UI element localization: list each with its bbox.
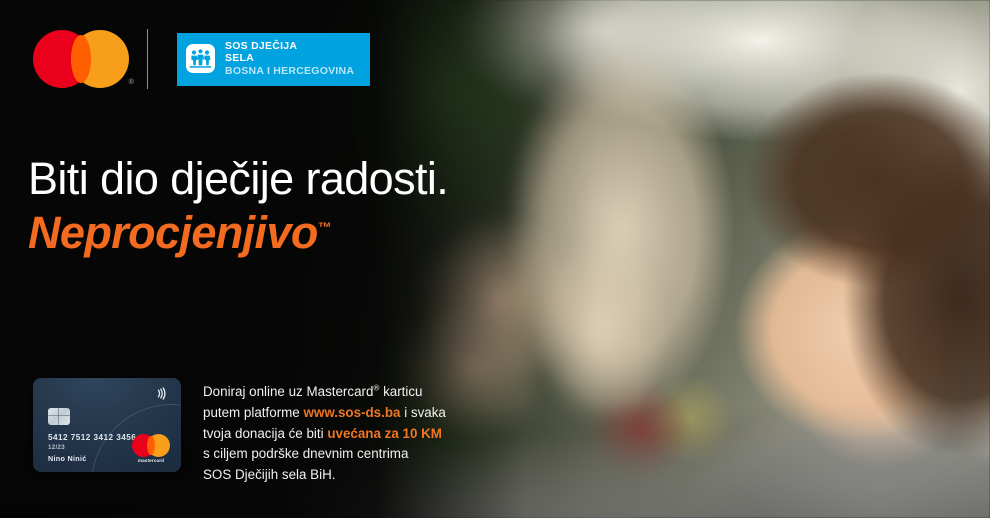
donation-copy: Doniraj online uz Mastercard® karticu pu…: [203, 378, 446, 486]
headline-tagline-text: Neprocjenjivo: [28, 207, 318, 258]
donation-website-link[interactable]: www.sos-ds.ba: [303, 405, 400, 420]
trademark-icon: ™: [318, 219, 332, 235]
card-mastercard-circles: [132, 434, 170, 457]
copy-line-3: tvoja donacija će biti uvećana za 10 KM: [203, 424, 446, 445]
emv-chip-icon: [48, 408, 70, 425]
sos-logo-text: SOS DJEČIJA SELA BOSNA I HERCEGOVINA: [225, 40, 354, 77]
copy-line-1-a: Doniraj online uz Mastercard: [203, 384, 373, 399]
card-network-label: mastercard: [132, 458, 170, 463]
mastercard-registered-mark: ®: [129, 79, 134, 86]
contactless-icon: [154, 386, 169, 401]
sos-childrens-villages-logo: SOS DJEČIJA SELA BOSNA I HERCEGOVINA: [177, 33, 370, 86]
logo-row: ® SOS DJEČIJA S: [33, 28, 370, 90]
copy-line-2-a: putem platforme: [203, 405, 303, 420]
copy-line-3-a: tvoja donacija će biti: [203, 426, 327, 441]
sos-logo-line-3: BOSNA I HERCEGOVINA: [225, 65, 354, 77]
copy-line-1-b: karticu: [379, 384, 422, 399]
credit-card-graphic: 5412 7512 3412 3456 12/23 Nino Ninić mas…: [33, 378, 181, 472]
donation-match-highlight: uvećana za 10 KM: [327, 426, 442, 441]
sos-children-icon: [186, 44, 215, 73]
bottom-block: 5412 7512 3412 3456 12/23 Nino Ninić mas…: [33, 378, 446, 486]
sos-logo-line-2: SELA: [225, 52, 354, 64]
copy-line-4: s ciljem podrške dnevnim centrima: [203, 444, 446, 465]
sos-logo-line-1: SOS DJEČIJA: [225, 40, 354, 52]
card-holder-name: Nino Ninić: [48, 454, 87, 463]
logo-divider: [147, 29, 148, 89]
copy-line-5: SOS Dječijih sela BiH.: [203, 465, 446, 486]
mastercard-logo: ®: [33, 30, 129, 88]
card-number: 5412 7512 3412 3456: [48, 433, 136, 442]
copy-line-2: putem platforme www.sos-ds.ba i svaka: [203, 403, 446, 424]
card-expiry: 12/23: [48, 444, 65, 451]
headline-tagline: Neprocjenjivo™: [28, 210, 332, 255]
campaign-banner: ® SOS DJEČIJA S: [0, 0, 990, 518]
headline-primary: Biti dio dječije radosti.: [28, 156, 668, 201]
copy-line-2-b: i svaka: [400, 405, 445, 420]
card-network-logo: mastercard: [132, 434, 170, 463]
copy-line-1: Doniraj online uz Mastercard® karticu: [203, 382, 446, 403]
headline-block: Biti dio dječije radosti. Neprocjenjivo™: [28, 156, 668, 255]
